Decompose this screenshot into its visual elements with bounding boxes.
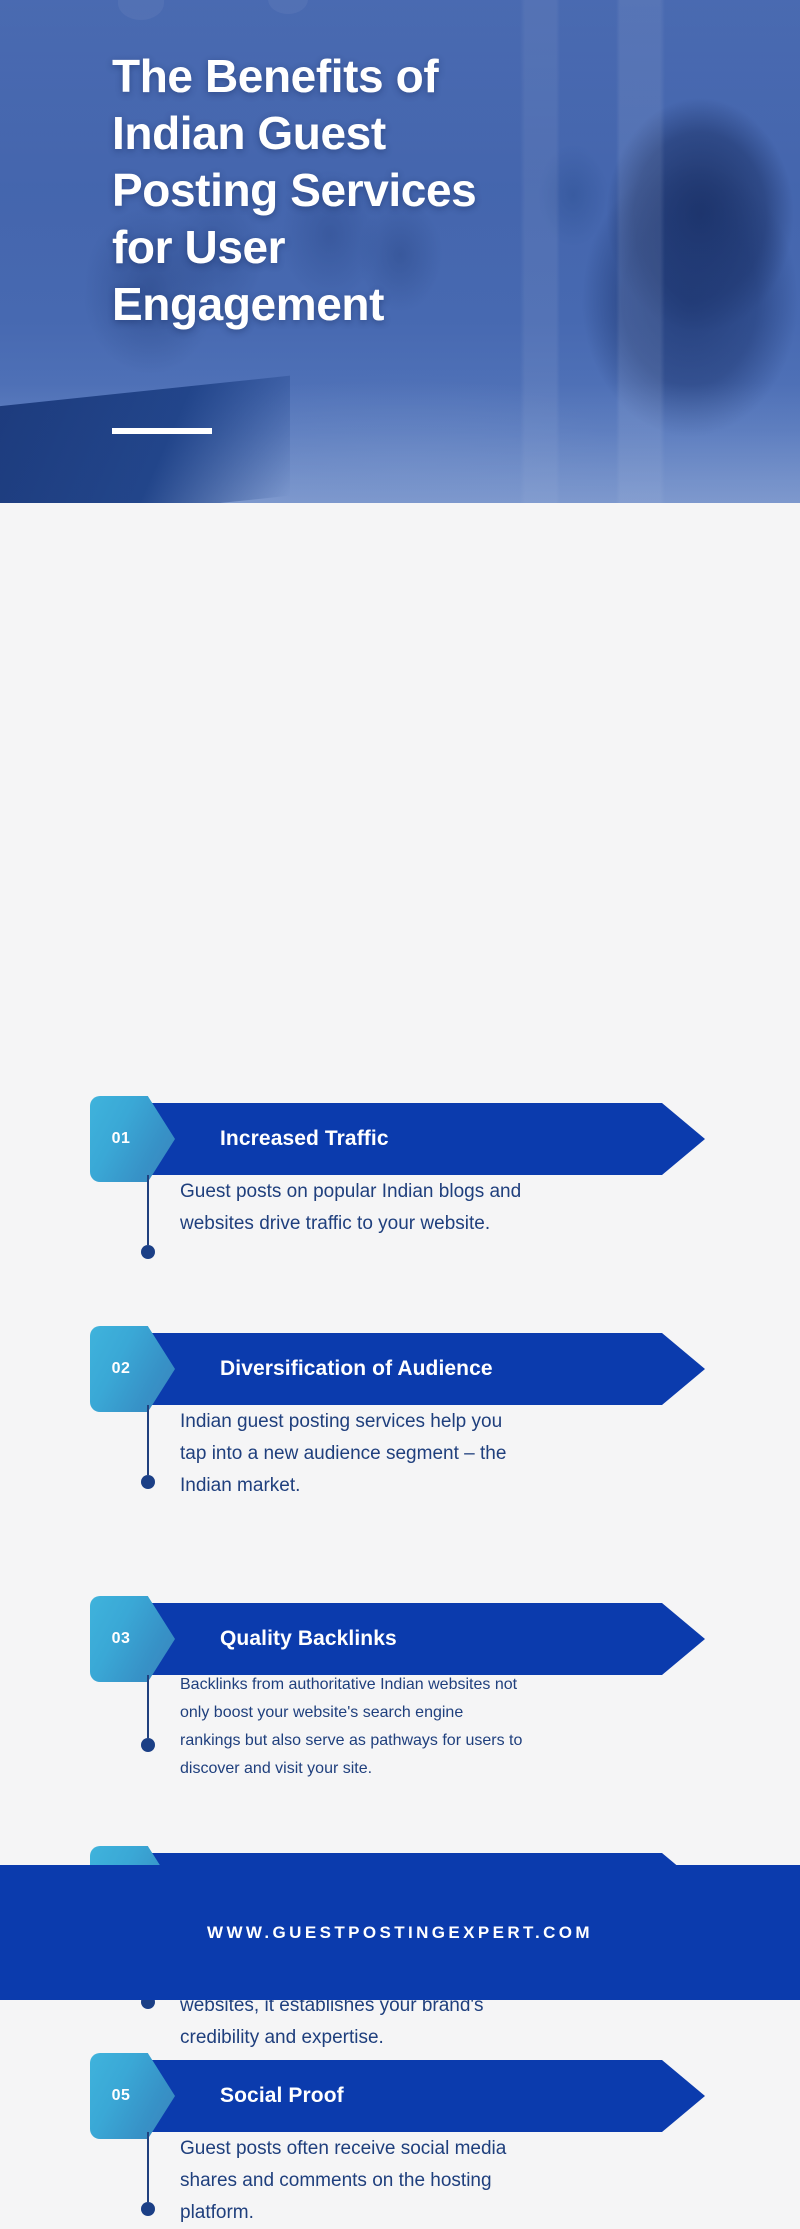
footer-website-url[interactable]: WWW.GUESTPOSTINGEXPERT.COM — [0, 1865, 800, 2000]
step-banner[interactable]: Quality Backlinks — [112, 1603, 705, 1675]
step-description: Guest posts often receive social media s… — [180, 2133, 506, 2229]
step-title: Quality Backlinks — [220, 1603, 397, 1675]
step-number: 05 — [90, 2053, 152, 2139]
step-banner[interactable]: Increased Traffic — [112, 1103, 705, 1175]
step-number: 01 — [90, 1096, 152, 1182]
step-connector-line — [147, 1175, 149, 1245]
step-title: Increased Traffic — [220, 1103, 389, 1175]
step-connector-dot — [141, 2202, 155, 2216]
step-description: Indian guest posting services help you t… — [180, 1406, 506, 1502]
step-connector-line — [147, 1405, 149, 1475]
step-connector-dot — [141, 1475, 155, 1489]
step-banner[interactable]: Social Proof — [112, 2060, 705, 2132]
step-banner[interactable]: Diversification of Audience — [112, 1333, 705, 1405]
step-description: Backlinks from authoritative Indian webs… — [180, 1671, 522, 1783]
step-number: 03 — [90, 1596, 152, 1682]
step-connector-dot — [141, 1245, 155, 1259]
step-description: Guest posts on popular Indian blogs and … — [180, 1176, 521, 1240]
footer-bar: WWW.GUESTPOSTINGEXPERT.COM — [0, 1865, 800, 2000]
page-title: The Benefits of Indian Guest Posting Ser… — [112, 48, 632, 333]
step-number: 02 — [90, 1326, 152, 1412]
header-hero: The Benefits of Indian Guest Posting Ser… — [0, 0, 800, 503]
step-connector-dot — [141, 1738, 155, 1752]
step-title: Social Proof — [220, 2060, 344, 2132]
step-title: Diversification of Audience — [220, 1333, 493, 1405]
title-underline-rule — [112, 428, 212, 434]
step-connector-line — [147, 1675, 149, 1738]
step-connector-line — [147, 2132, 149, 2202]
